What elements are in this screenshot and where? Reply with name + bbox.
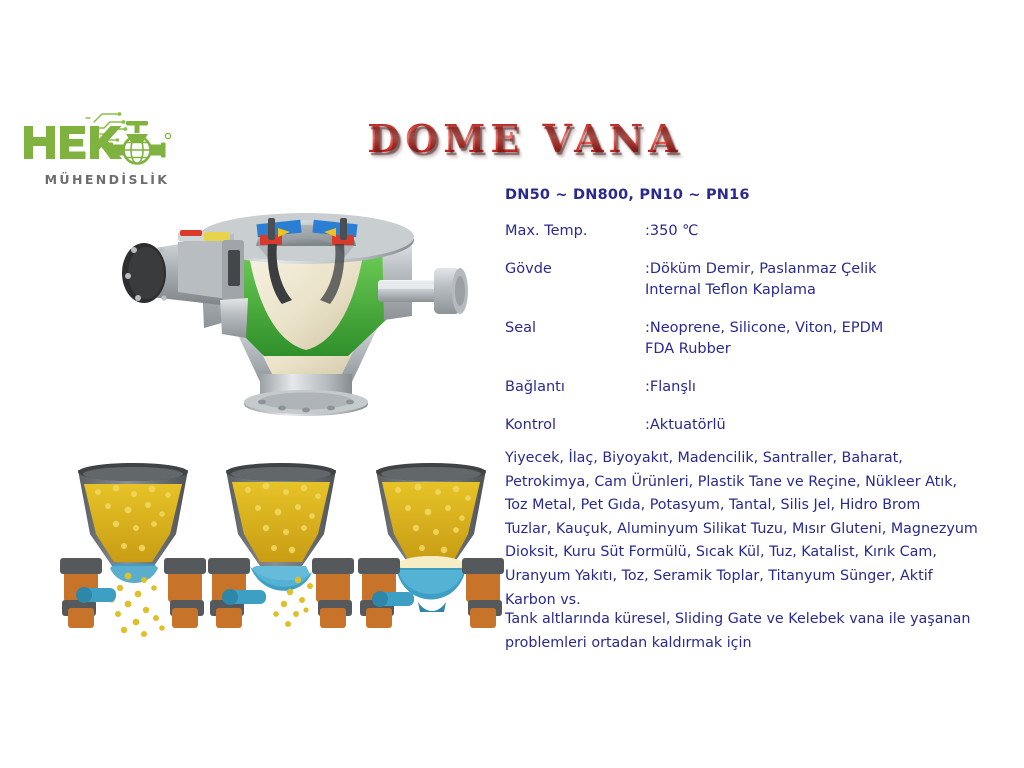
spec-value: :Neoprene, Silicone, Viton, EPDM FDA Rub… — [645, 318, 975, 360]
spec-label: Seal — [505, 318, 645, 360]
spec-row-baglanti: Bağlantı :Flanşlı — [505, 377, 975, 398]
spec-value: :Döküm Demir, Paslanmaz Çelik Internal T… — [645, 259, 975, 301]
actuator-yellow-marker — [204, 232, 230, 241]
spec-row-max-temp: Max. Temp. :350 ℃ — [505, 221, 975, 242]
spec-label: Bağlantı — [505, 377, 645, 398]
valve-closing-image — [206, 462, 356, 642]
brand-subtitle: MÜHENDİSLİK — [32, 172, 182, 187]
page-title: DOME VANA — [330, 120, 720, 158]
spec-value: :Flanşlı — [645, 377, 975, 398]
closing-paragraph: Tank altlarında küresel, Sliding Gate ve… — [505, 608, 983, 655]
valve-operation-sequence — [58, 462, 508, 642]
dome-valve-cutaway-image — [82, 188, 472, 423]
spec-headline: DN50 ~ DN800, PN10 ~ PN16 — [505, 188, 975, 203]
spec-row-seal: Seal :Neoprene, Silicone, Viton, EPDM FD… — [505, 318, 975, 360]
valve-closed-image — [356, 462, 506, 642]
brand-logo: MÜHENDİSLİK — [22, 106, 182, 196]
spec-row-govde: Gövde :Döküm Demir, Paslanmaz Çelik Inte… — [505, 259, 975, 301]
valve-actuator — [122, 230, 248, 338]
hekto-logo-icon — [22, 106, 182, 168]
valve-open-flowing-image — [58, 462, 208, 642]
hekto-wordmark — [24, 126, 122, 159]
spec-label: Kontrol — [505, 415, 645, 436]
spec-value: :350 ℃ — [645, 221, 975, 242]
spec-row-kontrol: Kontrol :Aktuatörlü — [505, 415, 975, 436]
spec-label: Gövde — [505, 259, 645, 301]
spec-label: Max. Temp. — [505, 221, 645, 242]
actuator-red-marker — [180, 230, 202, 236]
specification-list: DN50 ~ DN800, PN10 ~ PN16 Max. Temp. :35… — [505, 188, 975, 453]
spec-value: :Aktuatörlü — [645, 415, 975, 436]
materials-paragraph: Yiyecek, İlaç, Biyoyakıt, Madencilik, Sa… — [505, 447, 983, 612]
